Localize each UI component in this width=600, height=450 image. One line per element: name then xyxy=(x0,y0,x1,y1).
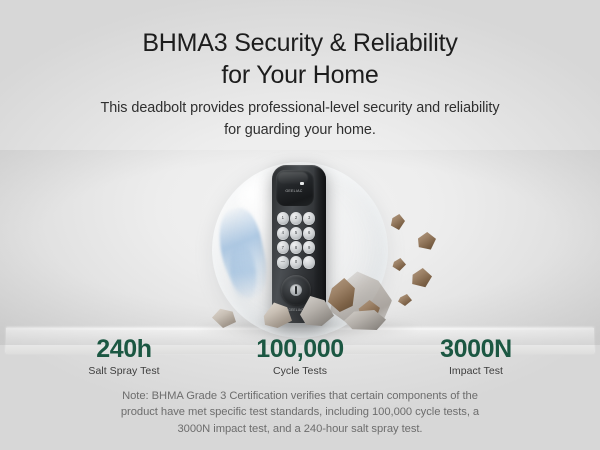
keypad-key-8: 8 xyxy=(290,241,302,254)
headline-line-2: for Your Home xyxy=(0,60,600,92)
stat-label: Impact Test xyxy=(416,365,536,377)
lock-side-bevel xyxy=(314,167,326,319)
stat-item: 100,000 Cycle Tests xyxy=(240,336,360,377)
keypad-key-3: 3 xyxy=(303,212,315,225)
lock-brand-logo: GEELIAC xyxy=(281,188,307,194)
keyhole-icon xyxy=(290,284,302,296)
stat-item: 240h Salt Spray Test xyxy=(64,336,184,377)
stat-value: 3000N xyxy=(416,336,536,362)
stat-label: Salt Spray Test xyxy=(64,365,184,377)
status-led-icon xyxy=(300,182,304,185)
keypad-key-4: 4 xyxy=(277,227,289,240)
subtitle-line-1: This deadbolt provides professional-leve… xyxy=(100,100,499,116)
certification-stats: 240h Salt Spray Test 100,000 Cycle Tests… xyxy=(0,336,600,377)
subtitle-line-2: for guarding your home. xyxy=(0,120,600,142)
stat-label: Cycle Tests xyxy=(240,365,360,377)
debris-shard xyxy=(392,258,406,271)
keypad-key-function-left: — xyxy=(277,256,289,269)
note-line-2: product have met specific test standards… xyxy=(70,404,530,420)
keypad-key-7: 7 xyxy=(277,241,289,254)
debris-shard xyxy=(390,214,405,230)
lock-top-gloss xyxy=(278,172,308,184)
stat-item: 3000N Impact Test xyxy=(416,336,536,377)
keypad-key-9: 9 xyxy=(303,241,315,254)
lock-keypad: 1 2 3 4 5 6 7 8 9 — 0 ○ xyxy=(277,212,315,269)
keypad-key-6: 6 xyxy=(303,227,315,240)
debris-shard xyxy=(416,232,436,250)
keypad-key-function-right: ○ xyxy=(303,256,315,269)
hero-product-image: GEELIAC 1 2 3 4 5 6 7 8 9 — 0 ○ GEELIAC xyxy=(0,150,600,345)
keypad-key-5: 5 xyxy=(290,227,302,240)
key-cylinder xyxy=(281,275,311,305)
product-feature-banner: BHMA3 Security & Reliability for Your Ho… xyxy=(0,0,600,450)
stat-value: 100,000 xyxy=(240,336,360,362)
certification-note: Note: BHMA Grade 3 Certification verifie… xyxy=(70,388,530,437)
keypad-key-1: 1 xyxy=(277,212,289,225)
headline-line-1: BHMA3 Security & Reliability xyxy=(142,29,457,57)
debris-shard xyxy=(410,268,432,288)
note-line-1: Note: BHMA Grade 3 Certification verifie… xyxy=(70,388,530,404)
note-line-3: 3000N impact test, and a 240-hour salt s… xyxy=(70,421,530,437)
keypad-key-2: 2 xyxy=(290,212,302,225)
page-title: BHMA3 Security & Reliability for Your Ho… xyxy=(0,28,600,92)
page-subtitle: This deadbolt provides professional-leve… xyxy=(0,98,600,142)
keypad-key-0: 0 xyxy=(290,256,302,269)
stat-value: 240h xyxy=(64,336,184,362)
debris-shard xyxy=(398,294,412,306)
